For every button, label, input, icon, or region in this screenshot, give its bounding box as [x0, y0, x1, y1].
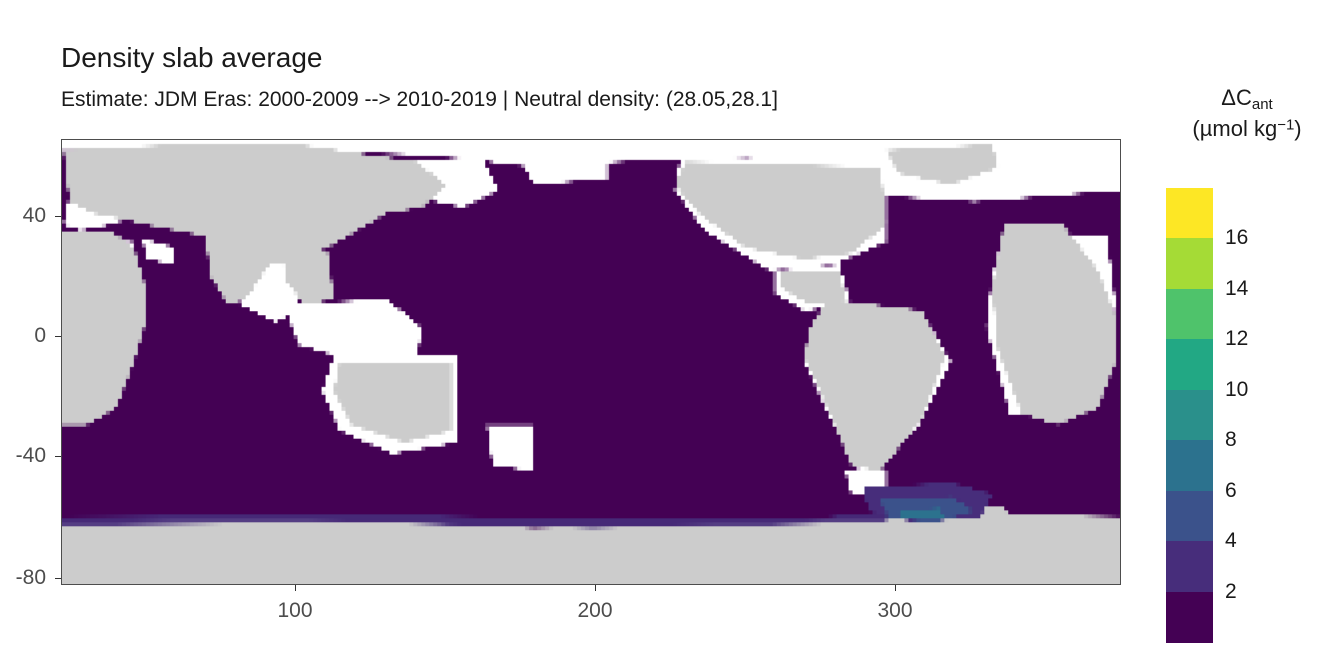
legend-units-prefix: (µmol kg [1192, 116, 1277, 141]
legend-title-main: ΔC [1221, 85, 1252, 110]
legend-units-suffix: ) [1294, 116, 1301, 141]
x-axis-tick-label: 300 [855, 599, 935, 623]
x-axis-tick-mark [295, 585, 296, 591]
world-map-raster [62, 140, 1120, 584]
legend-band [1166, 440, 1213, 491]
legend: ΔCant (µmol kg−1) 161412108642 [1150, 84, 1344, 142]
page-subtitle: Estimate: JDM Eras: 2000-2009 --> 2010-2… [61, 88, 778, 112]
legend-tick-label: 16 [1225, 226, 1265, 250]
y-axis-tick-mark [55, 456, 61, 457]
y-axis-tick-label: 0 [0, 324, 46, 348]
legend-tick-label: 6 [1225, 479, 1265, 503]
legend-title-subscript: ant [1252, 96, 1273, 113]
legend-band [1166, 238, 1213, 289]
legend-tick-label: 12 [1225, 327, 1265, 351]
legend-tick-label: 2 [1225, 580, 1265, 604]
y-axis-tick-label: 40 [0, 204, 46, 228]
x-axis-tick-mark [895, 585, 896, 591]
legend-band [1166, 491, 1213, 542]
map-panel [61, 139, 1121, 585]
legend-tick-label: 8 [1225, 428, 1265, 452]
y-axis-tick-mark [55, 578, 61, 579]
legend-band [1166, 339, 1213, 390]
x-axis-tick-mark [595, 585, 596, 591]
y-axis-tick-label: -80 [0, 566, 46, 590]
legend-tick-label: 14 [1225, 277, 1265, 301]
legend-tick-label: 10 [1225, 378, 1265, 402]
legend-tick-label: 4 [1225, 529, 1265, 553]
x-axis-tick-label: 200 [555, 599, 635, 623]
y-axis-tick-mark [55, 336, 61, 337]
legend-units-exponent: −1 [1277, 116, 1294, 133]
x-axis-tick-label: 100 [255, 599, 335, 623]
y-axis-tick-label: -40 [0, 444, 46, 468]
legend-title: ΔCant (µmol kg−1) [1150, 84, 1344, 142]
page-title: Density slab average [61, 42, 322, 74]
legend-colorbar[interactable] [1166, 188, 1213, 642]
y-axis-tick-mark [55, 216, 61, 217]
legend-band [1166, 541, 1213, 592]
legend-band [1166, 289, 1213, 340]
legend-band [1166, 592, 1213, 643]
legend-band [1166, 390, 1213, 441]
legend-body: 161412108642 [1166, 188, 1213, 642]
legend-band [1166, 188, 1213, 239]
